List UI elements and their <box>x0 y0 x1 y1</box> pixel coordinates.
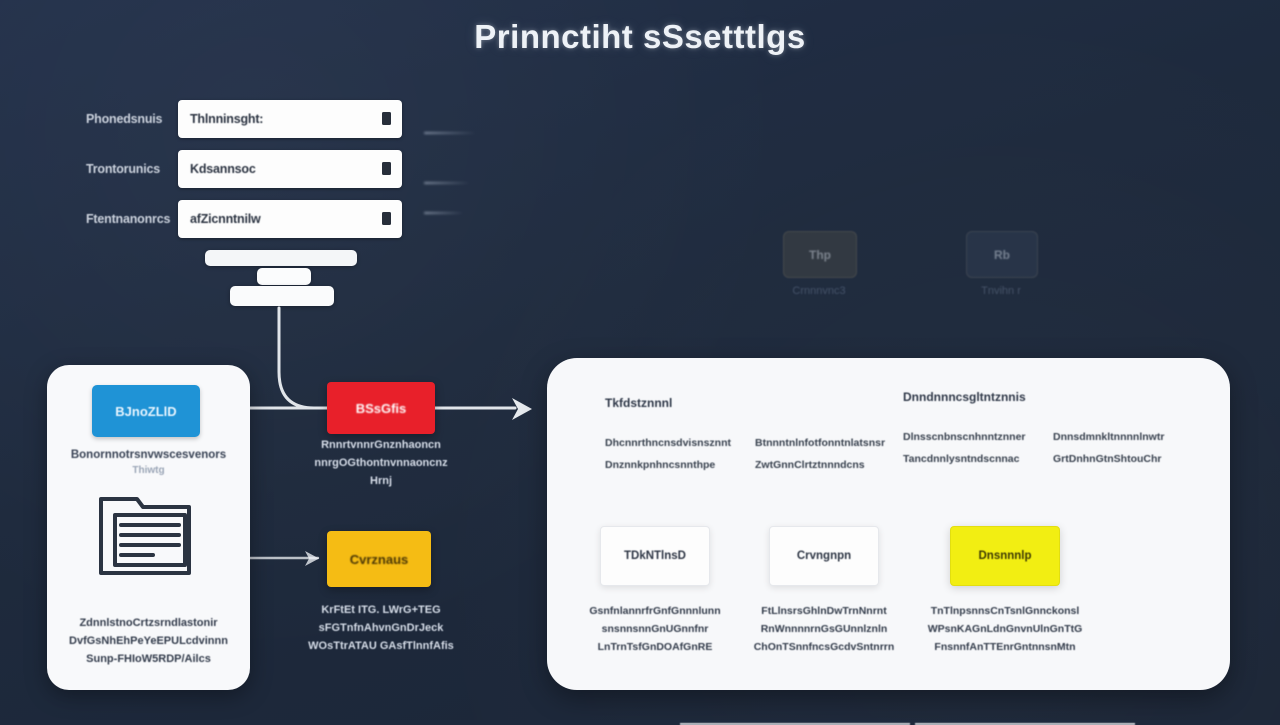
diagram-canvas: Prinnctiht sSsetttlgs Phonedsnuis Thlnni… <box>0 0 1280 720</box>
caption-line-1: RnnrtvnnrGnznhaoncn <box>301 436 461 454</box>
tile-label: TDkNTlnsD <box>624 550 686 562</box>
print-action-label: BSsGfis <box>356 401 407 416</box>
tile-line-2: WPsnKAGnLdnGnvnUlnGnTtG <box>920 620 1090 638</box>
paper-stack-graphic <box>205 250 385 308</box>
option-group-2: Dnndnnncsgltntznnis Dlnsscnbnscnhnntznne… <box>903 390 1203 470</box>
option-tile-2[interactable]: Crvngnpn FtLlnsrsGhlnDwTrnNnrnt RnWnnnnr… <box>739 526 909 656</box>
document-stack-icon <box>93 487 203 583</box>
field-label: Ftentnanonrcs <box>86 212 178 226</box>
tile-button[interactable]: Dnsnnnlp <box>950 526 1060 586</box>
tile-button[interactable]: TDkNTlnsD <box>600 526 710 586</box>
group-column: Dlnsscnbnscnhnntznner Tancdnnlysntndscnn… <box>903 426 1053 470</box>
column-line-1: Dlnsscnbnscnhnntznner <box>903 431 1026 443</box>
tile-line-1: TnTlnpsnnsCnTsnlGnnckonsl <box>920 602 1090 620</box>
ghost-label: Thp <box>809 248 831 262</box>
source-card: BJnoZLlD Bonornnotrsnvwscesvenors Thiwtg… <box>47 365 250 690</box>
column-line-2: GrtDnhnGtnShtouChr <box>1053 448 1203 470</box>
form-row: Phonedsnuis Thlnninsght: <box>86 100 416 138</box>
source-card-lines: ZdnnlstnoCrtzsrndlastonir DvfGsNhEhPeYeE… <box>55 614 242 668</box>
tile-caption: TnTlnpsnnsCnTsnlGnnckonsl WPsnKAGnLdnGnv… <box>920 602 1090 656</box>
dropdown-paper-size[interactable]: Thlnninsght: <box>178 100 402 138</box>
tile-line-1: FtLlnsrsGhlnDwTrnNnrnt <box>739 602 909 620</box>
caption-line-3: WOsTtrATAU GAsfTlnnfAfis <box>301 637 461 655</box>
wisp-line-3 <box>424 212 464 214</box>
paper-sheet <box>257 268 311 285</box>
page-title: Prinnctiht sSsetttlgs <box>0 18 1280 56</box>
print-action-button[interactable]: BSsGfis <box>327 382 435 434</box>
tile-line-2: snsnnsnnGnUGnnfnr <box>570 620 740 638</box>
caption-line-2: sFGTnfnAhvnGnDrJeck <box>301 619 461 637</box>
options-panel: Tkfdstznnnl Dhcnnrthncnsdvisnsznnt Dnznn… <box>547 358 1230 690</box>
ghost-caption: Crnnnvnc3 <box>783 285 855 297</box>
dropdown-value: Kdsannsoc <box>178 162 256 176</box>
dropdown-value: afZicnntnilw <box>178 212 261 226</box>
dropdown-resolution[interactable]: afZicnntnilw <box>178 200 402 238</box>
convert-action-caption: KrFtEt ITG. LWrG+TEG sFGTnfnAhvnGnDrJeck… <box>301 601 461 655</box>
tile-line-3: LnTrnTsfGnDOAfGnRE <box>570 638 740 656</box>
caption-line-1: KrFtEt ITG. LWrG+TEG <box>301 601 461 619</box>
print-action-caption: RnnrtvnnrGnznhaoncn nnrgOGthontnvnnaoncn… <box>301 436 461 490</box>
form-row: Ftentnanonrcs afZicnntnilw <box>86 200 416 238</box>
caption-sub: Thiwtg <box>57 463 240 478</box>
upload-button-label: BJnoZLlD <box>115 404 176 419</box>
caption-line-3: Hrnj <box>301 472 461 490</box>
source-line-2: DvfGsNhEhPeYeEPULcdvinnn <box>55 632 242 650</box>
option-tiles: TDkNTlnsD GsnfnlannrfrGnfGnnnlunn snsnns… <box>570 526 1210 666</box>
source-line-1: ZdnnlstnoCrtzsrndlastonir <box>55 614 242 632</box>
group-heading: Tkfdstznnnl <box>605 396 905 410</box>
ghost-caption: Tnvihn r <box>966 285 1036 297</box>
group-column: Btnnntnlnfotfonntnlatsnsr ZwtGnnClrtztnn… <box>755 432 905 476</box>
option-tile-3[interactable]: Dnsnnnlp TnTlnpsnnsCnTsnlGnnckonsl WPsnK… <box>920 526 1090 656</box>
tile-caption: GsnfnlannrfrGnfGnnnlunn snsnnsnnGnUGnnfn… <box>570 602 740 656</box>
tile-line-3: FnsnnfAnTTEnrGntnnsnMtn <box>920 638 1090 656</box>
chevron-down-icon[interactable] <box>382 162 391 175</box>
column-line-2: Dnznnkpnhncsnnthpe <box>605 454 755 476</box>
tile-button[interactable]: Crvngnpn <box>769 526 879 586</box>
paper-sheet <box>230 286 334 306</box>
paper-sheet <box>205 250 357 266</box>
tile-label: Crvngnpn <box>797 550 851 562</box>
option-group-1: Tkfdstznnnl Dhcnnrthncnsdvisnsznnt Dnznn… <box>605 396 905 476</box>
chevron-down-icon[interactable] <box>382 212 391 225</box>
ghost-label: Rb <box>994 248 1010 262</box>
convert-action-button[interactable]: Cvrznaus <box>327 531 431 587</box>
field-label: Phonedsnuis <box>86 112 178 126</box>
group-column: Dhcnnrthncnsdvisnsznnt Dnznnkpnhncsnnthp… <box>605 432 755 476</box>
tile-label: Dnsnnnlp <box>978 550 1031 562</box>
tile-caption: FtLlnsrsGhlnDwTrnNnrnt RnWnnnnrnGsGUnnlz… <box>739 602 909 656</box>
column-line-2: Tancdnnlysntndscnnac <box>903 448 1053 470</box>
column-line-2: ZwtGnnClrtztnnndcns <box>755 454 905 476</box>
column-line-1: Btnnntnlnfotfonntnlatsnsr <box>755 437 885 449</box>
tile-line-1: GsnfnlannrfrGnfGnnnlunn <box>570 602 740 620</box>
ghost-button[interactable]: Rb <box>966 231 1038 278</box>
ghost-button[interactable]: Thp <box>783 231 857 278</box>
source-card-caption: Bonornnotrsnvwscesvenors Thiwtg <box>57 448 240 478</box>
wisp-line-2 <box>424 182 470 184</box>
chevron-down-icon[interactable] <box>382 112 391 125</box>
form-row: Trontorunics Kdsannsoc <box>86 150 416 188</box>
upload-button[interactable]: BJnoZLlD <box>92 385 200 437</box>
ghost-item-2[interactable]: Rb Tnvihn r <box>966 231 1036 297</box>
tile-line-2: RnWnnnnrnGsGUnnlznln <box>739 620 909 638</box>
caption-main: Bonornnotrsnvwscesvenors <box>71 449 226 461</box>
dropdown-orientation[interactable]: Kdsannsoc <box>178 150 402 188</box>
source-line-3: Sunp-FHIoW5RDP/Ailcs <box>55 650 242 668</box>
settings-form: Phonedsnuis Thlnninsght: Trontorunics Kd… <box>86 100 416 250</box>
convert-action-label: Cvrznaus <box>350 552 409 567</box>
ghost-item-1[interactable]: Thp Crnnnvnc3 <box>783 231 855 297</box>
group-heading: Dnndnnncsgltntznnis <box>903 390 1203 404</box>
option-tile-1[interactable]: TDkNTlnsD GsnfnlannrfrGnfGnnnlunn snsnns… <box>570 526 740 656</box>
wisp-line-1 <box>424 132 476 134</box>
column-line-1: Dhcnnrthncnsdvisnsznnt <box>605 437 731 449</box>
group-column: Dnnsdmnkltnnnnlnwtr GrtDnhnGtnShtouChr <box>1053 426 1203 470</box>
dropdown-value: Thlnninsght: <box>178 112 263 126</box>
column-line-1: Dnnsdmnkltnnnnlnwtr <box>1053 431 1164 443</box>
caption-line-2: nnrgOGthontnvnnaoncnz <box>301 454 461 472</box>
tile-line-3: ChOnTSnnfncsGcdvSntnrrn <box>739 638 909 656</box>
field-label: Trontorunics <box>86 162 178 176</box>
